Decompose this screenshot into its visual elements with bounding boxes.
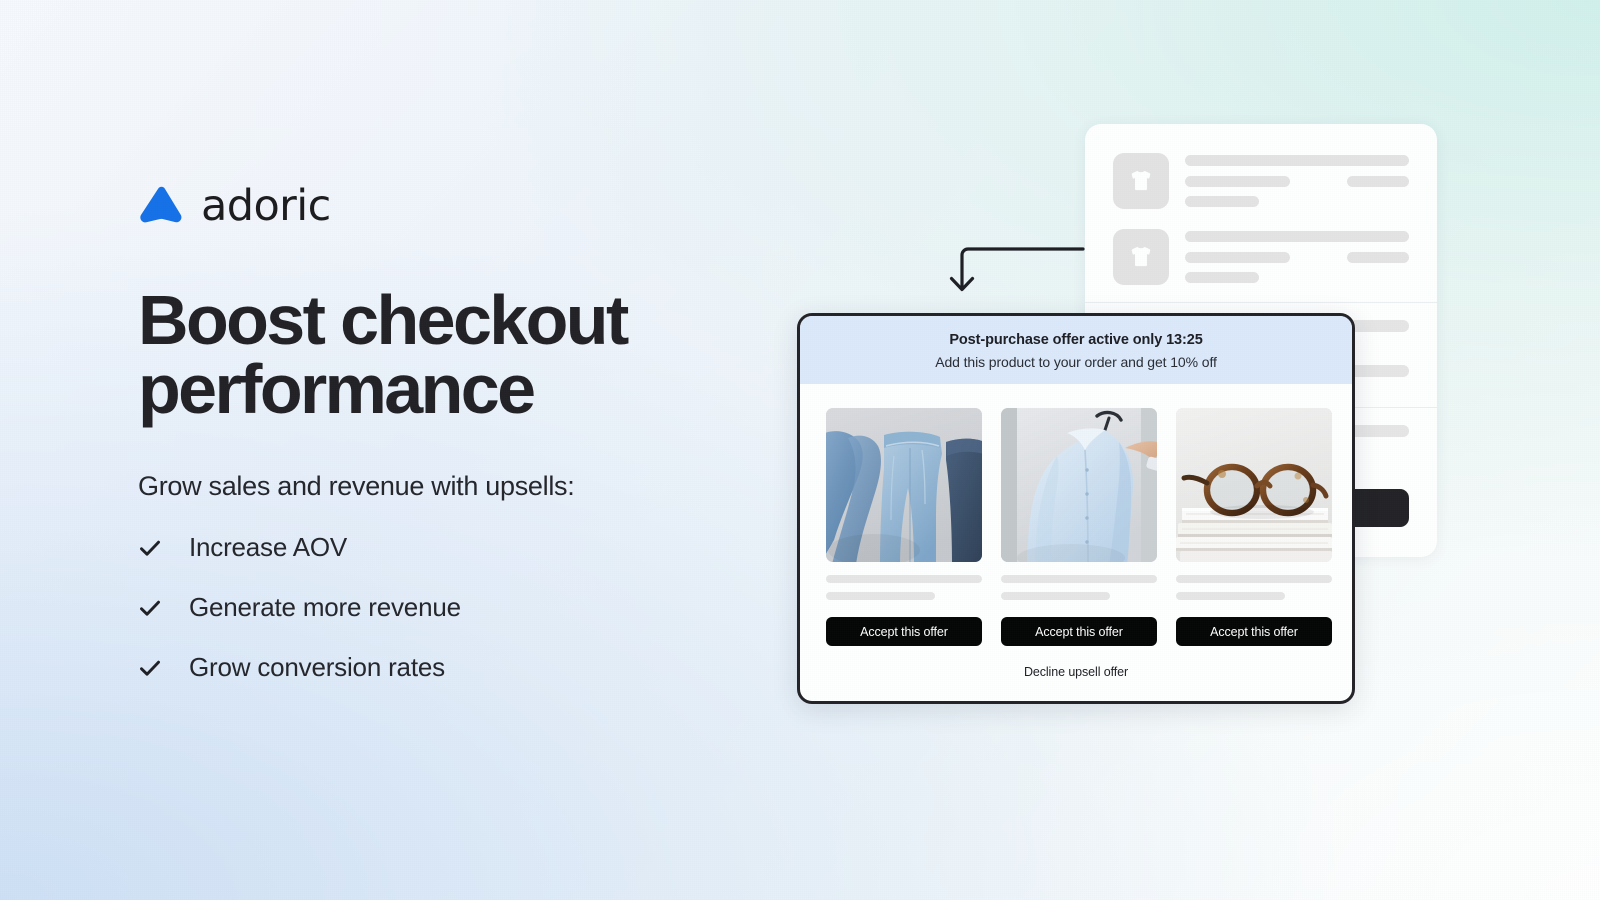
upsell-modal: Post-purchase offer active only 13:25 Ad…	[797, 313, 1355, 704]
order-line-skeleton	[1185, 155, 1409, 207]
product-list: Accept this offer	[800, 384, 1352, 646]
list-item: Generate more revenue	[138, 592, 778, 623]
adoric-triangle-logo-icon	[138, 184, 184, 228]
offer-title: Post-purchase offer active only 13:25	[820, 332, 1332, 348]
skeleton-line	[826, 575, 982, 583]
product-thumbnail	[1113, 153, 1169, 209]
product-thumbnail	[1113, 229, 1169, 285]
skeleton-line	[1185, 272, 1259, 283]
skeleton-line	[1185, 231, 1409, 242]
order-line-skeleton	[1185, 231, 1409, 283]
order-line-item	[1085, 150, 1437, 212]
skeleton-line	[1185, 252, 1290, 263]
list-item: Grow conversion rates	[138, 652, 778, 683]
hero-content: adoric Boost checkout performance Grow s…	[138, 178, 778, 712]
accept-offer-button[interactable]: Accept this offer	[826, 617, 982, 646]
benefit-label: Generate more revenue	[189, 592, 461, 623]
accept-offer-button[interactable]: Accept this offer	[1001, 617, 1157, 646]
skeleton-price	[1347, 252, 1409, 263]
brand-name: adoric	[201, 181, 331, 231]
skeleton-line	[1185, 196, 1259, 207]
accept-offer-button[interactable]: Accept this offer	[1176, 617, 1332, 646]
skeleton-line	[826, 592, 935, 600]
benefit-label: Increase AOV	[189, 532, 347, 563]
check-icon	[138, 596, 162, 620]
decline-offer-link[interactable]: Decline upsell offer	[800, 665, 1352, 679]
offer-banner: Post-purchase offer active only 13:25 Ad…	[800, 316, 1352, 384]
hero-subtitle: Grow sales and revenue with upsells:	[138, 471, 778, 502]
elbow-arrow-icon	[938, 243, 1083, 298]
order-line-item	[1085, 226, 1437, 288]
tshirt-icon	[1128, 244, 1154, 270]
skeleton-price	[1347, 176, 1409, 187]
promotional-banner: adoric Boost checkout performance Grow s…	[0, 0, 1600, 900]
tshirt-icon	[1128, 168, 1154, 194]
product-card: Accept this offer	[826, 408, 982, 646]
offer-subtitle: Add this product to your order and get 1…	[820, 354, 1332, 370]
brand-logo: adoric	[138, 178, 778, 234]
check-icon	[138, 536, 162, 560]
list-item: Increase AOV	[138, 532, 778, 563]
skeleton-line	[1176, 575, 1332, 583]
eyeglasses-on-books-photo	[1176, 408, 1332, 562]
benefit-list: Increase AOV Generate more revenue Grow …	[138, 532, 778, 683]
product-card: Accept this offer	[1176, 408, 1332, 646]
skeleton-line	[1185, 155, 1409, 166]
skeleton-line	[1001, 592, 1110, 600]
page-title: Boost checkout performance	[138, 286, 738, 425]
benefit-label: Grow conversion rates	[189, 652, 445, 683]
skeleton-line	[1185, 176, 1290, 187]
denim-jeans-photo	[826, 408, 982, 562]
skeleton-line	[1176, 592, 1285, 600]
blue-dress-shirt-photo	[1001, 408, 1157, 562]
product-card: Accept this offer	[1001, 408, 1157, 646]
check-icon	[138, 656, 162, 680]
skeleton-line	[1001, 575, 1157, 583]
